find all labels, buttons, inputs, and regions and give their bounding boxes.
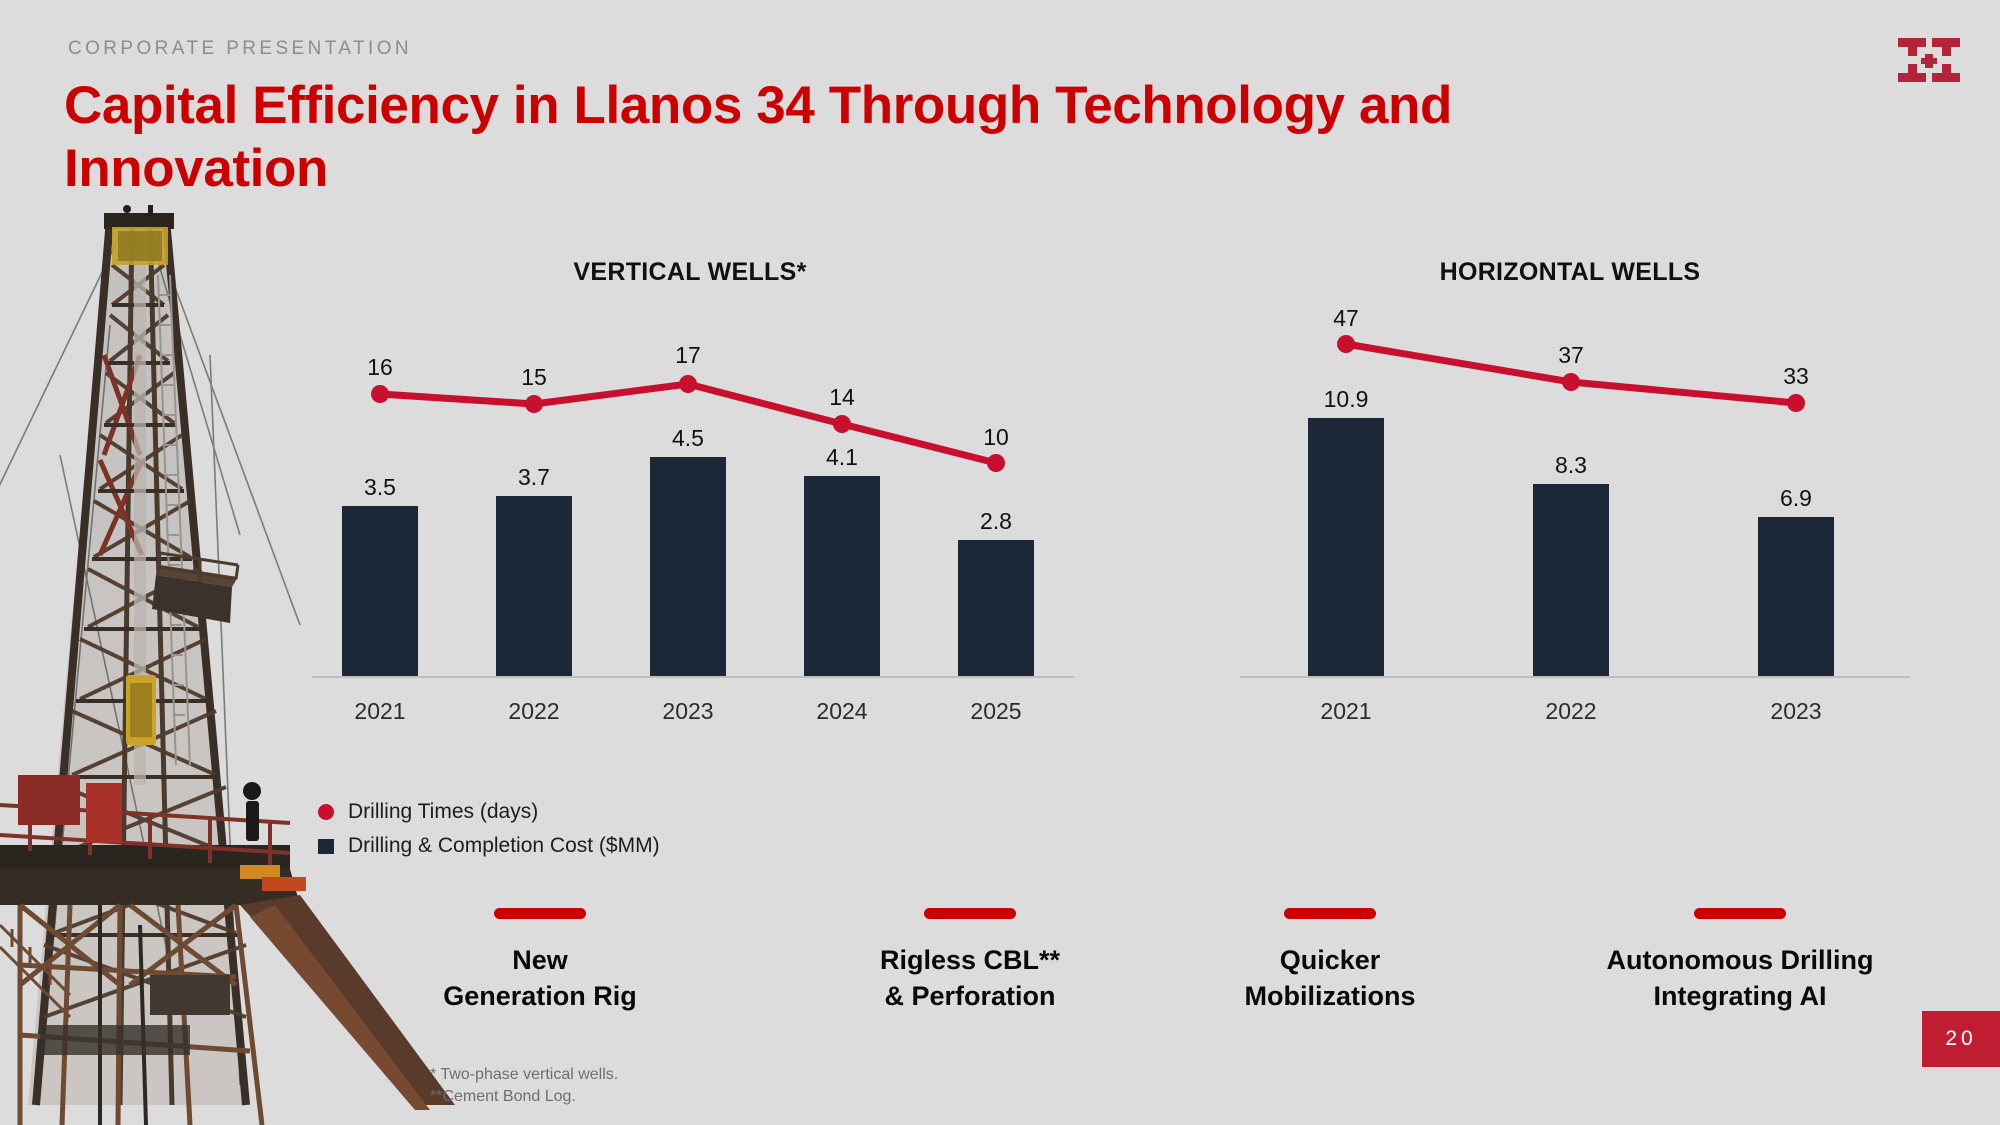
point-value-h-2023: 33 bbox=[1758, 363, 1834, 390]
callout-new-generation-rig: New Generation Rig bbox=[430, 908, 650, 1014]
point-value-2022: 15 bbox=[496, 364, 572, 391]
x-label-h-2022: 2022 bbox=[1533, 698, 1609, 725]
legend-label-drilling-times: Drilling Times (days) bbox=[348, 800, 538, 824]
point-value-2024: 14 bbox=[804, 384, 880, 411]
x-label-2021: 2021 bbox=[342, 698, 418, 725]
callout-text-new-generation-rig: New Generation Rig bbox=[430, 943, 650, 1014]
chart-horizontal-wells: HORIZONTAL WELLS 10.9 8.3 6.9 47 37 33 2… bbox=[1230, 258, 1910, 758]
legend-label-drilling-cost: Drilling & Completion Cost ($MM) bbox=[348, 834, 660, 858]
callout-dash-icon bbox=[1284, 908, 1376, 919]
point-value-h-2021: 47 bbox=[1308, 305, 1384, 332]
x-label-h-2021: 2021 bbox=[1308, 698, 1384, 725]
x-label-2025: 2025 bbox=[958, 698, 1034, 725]
callout-rigless-cbl-perforation: Rigless CBL** & Perforation bbox=[825, 908, 1115, 1014]
legend-item-drilling-cost: Drilling & Completion Cost ($MM) bbox=[318, 829, 660, 863]
callout-dash-icon bbox=[1694, 908, 1786, 919]
point-value-2023: 17 bbox=[650, 342, 726, 369]
x-label-h-2023: 2023 bbox=[1758, 698, 1834, 725]
point-value-h-2022: 37 bbox=[1533, 342, 1609, 369]
chart-title-horizontal: HORIZONTAL WELLS bbox=[1230, 258, 1910, 287]
footnote-line-1: * Two-phase vertical wells. bbox=[430, 1064, 618, 1086]
callout-text-autonomous-drilling-ai: Autonomous Drilling Integrating AI bbox=[1575, 943, 1905, 1014]
x-label-2022: 2022 bbox=[496, 698, 572, 725]
footnote-line-2: **Cement Bond Log. bbox=[430, 1086, 618, 1108]
parex-logo-icon bbox=[1898, 38, 1960, 82]
x-label-2024: 2024 bbox=[804, 698, 880, 725]
chart-title-vertical: VERTICAL WELLS* bbox=[300, 258, 1080, 287]
callout-dash-icon bbox=[494, 908, 586, 919]
point-value-2021: 16 bbox=[342, 354, 418, 381]
chart-vertical-wells: VERTICAL WELLS* 3.5 3.7 4.5 4.1 2.8 16 1… bbox=[300, 258, 1080, 758]
callout-dash-icon bbox=[924, 908, 1016, 919]
footnotes: * Two-phase vertical wells. **Cement Bon… bbox=[430, 1064, 618, 1107]
legend-dot-icon bbox=[318, 804, 334, 820]
legend-square-icon bbox=[318, 839, 334, 854]
point-value-2025: 10 bbox=[958, 424, 1034, 451]
callout-quicker-mobilizations: Quicker Mobilizations bbox=[1200, 908, 1460, 1014]
chart-legend: Drilling Times (days) Drilling & Complet… bbox=[318, 795, 660, 863]
callout-autonomous-drilling-ai: Autonomous Drilling Integrating AI bbox=[1575, 908, 1905, 1014]
page-number-badge: 20 bbox=[1922, 1011, 2000, 1067]
callout-text-quicker-mobilizations: Quicker Mobilizations bbox=[1200, 943, 1460, 1014]
callout-text-rigless-cbl-perforation: Rigless CBL** & Perforation bbox=[825, 943, 1115, 1014]
legend-item-drilling-times: Drilling Times (days) bbox=[318, 795, 660, 829]
x-label-2023: 2023 bbox=[650, 698, 726, 725]
page-title: Capital Efficiency in Llanos 34 Through … bbox=[64, 75, 1684, 200]
eyebrow-label: CORPORATE PRESENTATION bbox=[68, 38, 412, 60]
